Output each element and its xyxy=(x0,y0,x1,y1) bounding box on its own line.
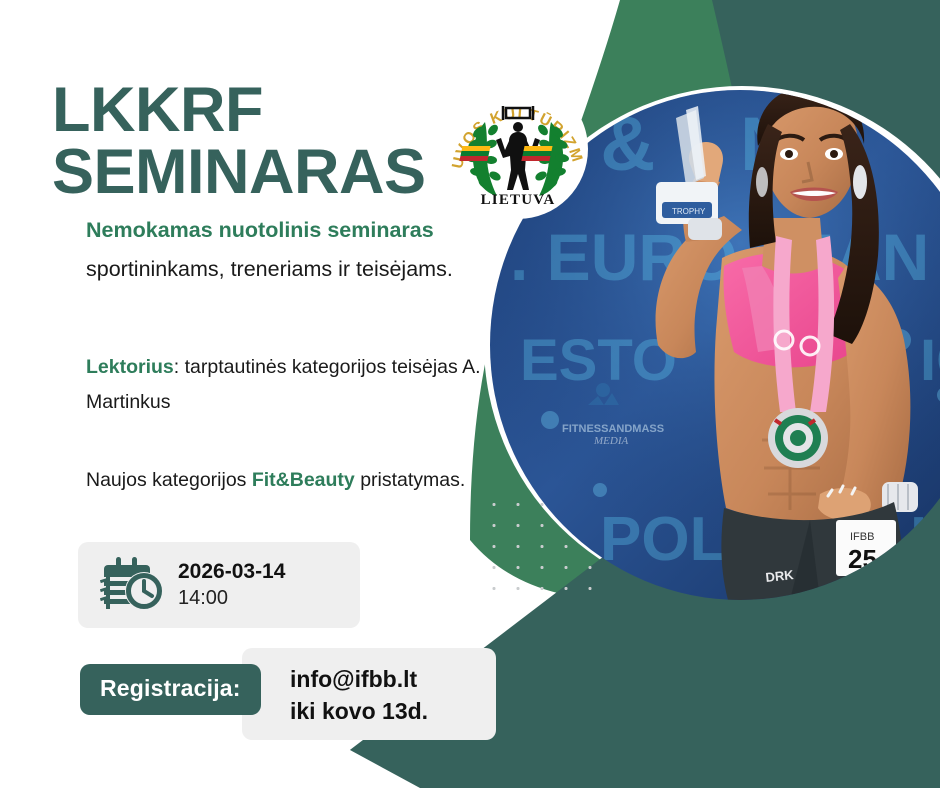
category-pre: Naujos kategorijos xyxy=(86,469,252,491)
svg-text:KR: KR xyxy=(910,505,940,574)
category-paragraph: Naujos kategorijos Fit&Beauty pristatyma… xyxy=(86,463,486,498)
svg-text:IO: IO xyxy=(920,328,940,393)
svg-text:TROPHY: TROPHY xyxy=(672,207,706,216)
registration-email[interactable]: info@ifbb.lt xyxy=(290,664,520,696)
category-accent: Fit&Beauty xyxy=(252,469,355,491)
category-post: pristatymas. xyxy=(355,469,466,491)
event-date: 2026-03-14 xyxy=(178,559,285,585)
calendar-clock-icon xyxy=(100,557,166,613)
svg-text:IFBB: IFBB xyxy=(850,531,874,543)
lkkrf-logo: LIETUVOS KULTŪRIZMUI 60 xyxy=(447,78,589,220)
headline-line-1: LKKRF xyxy=(52,75,263,145)
flag-right xyxy=(521,146,552,161)
poster-canvas: P & N . EURO EAN ESTO IO POL KR xyxy=(0,0,940,788)
registration-deadline: iki kovo 13d. xyxy=(290,696,520,728)
lecturer-label: Lektorius xyxy=(86,356,174,378)
paragraph-1-accent: Nemokamas nuotolinis seminaras xyxy=(86,218,434,242)
description-paragraph-1: Nemokamas nuotolinis seminaras sportinin… xyxy=(86,211,456,289)
svg-text:MEDIA: MEDIA xyxy=(593,435,628,447)
date-time-card: 2026-03-14 14:00 xyxy=(78,542,360,628)
svg-text:POL: POL xyxy=(600,505,727,574)
svg-text:FITNESSANDMASS: FITNESSANDMASS xyxy=(562,423,664,435)
svg-text:ESTO: ESTO xyxy=(520,328,677,393)
headline-line-2: SEMINARAS xyxy=(52,142,472,204)
contact-details: info@ifbb.lt iki kovo 13d. xyxy=(290,664,520,727)
event-time: 14:00 xyxy=(178,586,285,611)
lecturer-paragraph: Lektorius: tarptautinės kategorijos teis… xyxy=(86,350,486,421)
page-title: LKKRF SEMINARAS xyxy=(52,80,472,203)
registration-label: Registracija: xyxy=(80,664,261,715)
flag-left xyxy=(459,146,490,161)
paragraph-1-rest: sportininkams, treneriams ir teisėjams. xyxy=(86,257,453,281)
logo-bottom-text: LIETUVA xyxy=(481,192,556,208)
svg-text:DRK: DRK xyxy=(765,567,795,585)
svg-text:25: 25 xyxy=(848,544,877,574)
